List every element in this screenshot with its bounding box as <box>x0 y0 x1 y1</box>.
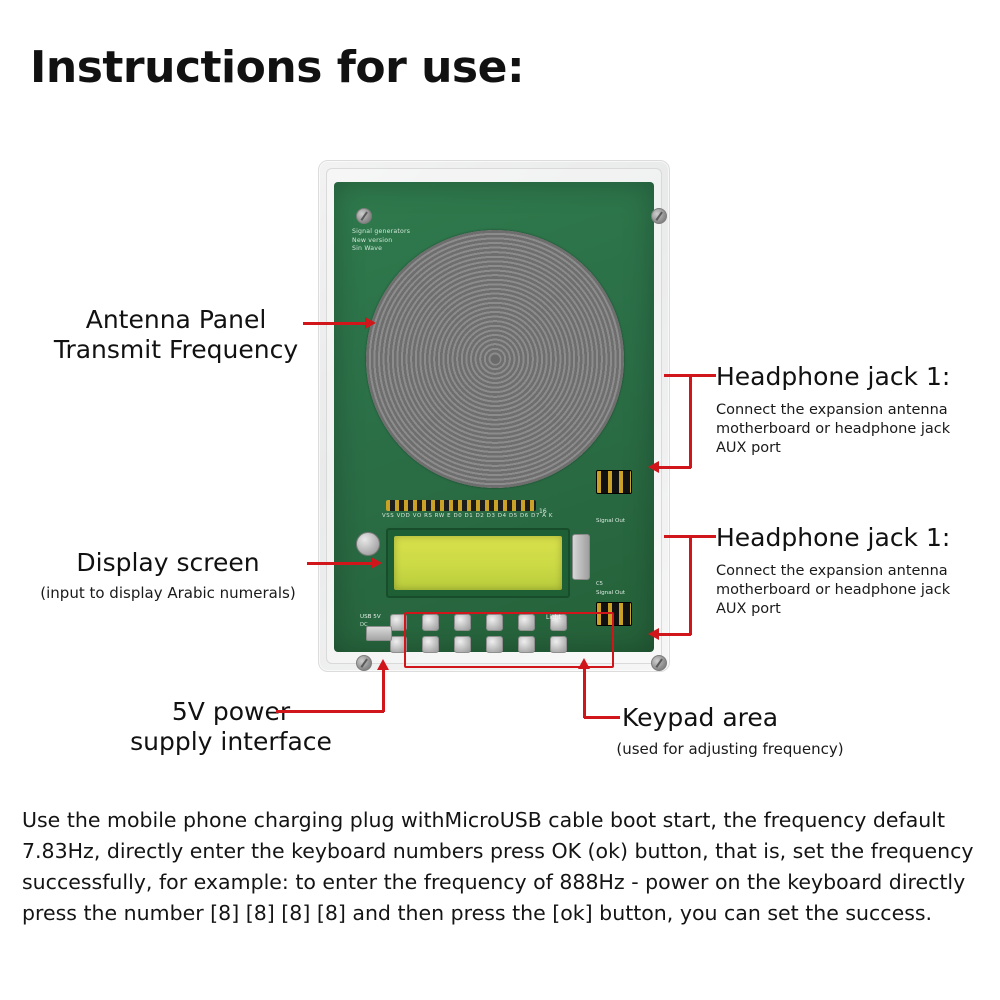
screw-icon <box>651 208 667 224</box>
callout-jack-1-sub-2: motherboard or headphone jack <box>716 420 996 439</box>
arrow-jack-2 <box>648 628 659 640</box>
callout-antenna-line1: Antenna Panel <box>46 305 306 335</box>
screw-icon <box>356 655 372 671</box>
callout-antenna-line2: Transmit Frequency <box>46 335 306 365</box>
leader-line-antenna <box>303 322 367 325</box>
page-title: Instructions for use: <box>30 42 524 93</box>
arrow-keypad <box>578 658 590 669</box>
signal-out-label-1: Signal Out <box>596 518 625 524</box>
silkscreen-line-1: Signal generators <box>352 228 410 237</box>
contrast-potentiometer <box>356 532 380 556</box>
callout-display-sub: (input to display Arabic numerals) <box>18 584 318 603</box>
screw-icon <box>356 208 372 224</box>
callout-display: Display screen (input to display Arabic … <box>18 548 318 603</box>
capacitor <box>572 534 590 580</box>
callout-power: 5V power supply interface <box>120 697 342 757</box>
leader-line-power-h <box>276 710 384 713</box>
antenna-coil <box>366 230 624 488</box>
silkscreen-line-2: New version <box>352 237 410 246</box>
paragraph-line-4: press the number [8] [8] [8] [8] and the… <box>22 898 982 929</box>
pin-labels: VSS VDD VO RS RW E D0 D1 D2 D3 D4 D5 D6 … <box>382 513 562 519</box>
callout-display-title: Display screen <box>18 548 318 578</box>
callout-keypad: Keypad area (used for adjusting frequenc… <box>560 703 900 759</box>
leader-line-jack-2-h2 <box>659 633 691 636</box>
callout-power-line2: supply interface <box>120 727 342 757</box>
pcb-silkscreen-text: Signal generators New version Sin Wave <box>352 228 410 254</box>
micro-usb-port[interactable] <box>366 626 392 641</box>
device-illustration: Signal generators New version Sin Wave V… <box>318 160 670 672</box>
callout-jack-2: Headphone jack 1: Connect the expansion … <box>716 523 996 619</box>
callout-jack-1: Headphone jack 1: Connect the expansion … <box>716 362 996 458</box>
screw-icon <box>651 655 667 671</box>
callout-jack-1-title: Headphone jack 1: <box>716 362 996 392</box>
paragraph-line-3: successfully, for example: to enter the … <box>22 867 982 898</box>
arrow-antenna <box>365 317 376 329</box>
paragraph-line-1: Use the mobile phone charging plug withM… <box>22 805 982 836</box>
callout-keypad-title: Keypad area <box>622 703 900 733</box>
lcd-header-pins <box>386 500 536 511</box>
callout-keypad-sub: (used for adjusting frequency) <box>560 740 900 759</box>
callout-jack-2-title: Headphone jack 1: <box>716 523 996 553</box>
leader-line-keypad-v <box>583 668 586 718</box>
instructions-paragraph: Use the mobile phone charging plug withM… <box>22 805 982 929</box>
arrow-display <box>371 557 382 569</box>
callout-antenna: Antenna Panel Transmit Frequency <box>46 305 306 365</box>
callout-jack-2-sub-1: Connect the expansion antenna <box>716 562 996 581</box>
pin-number-label: 16 <box>539 508 547 515</box>
headphone-jack-connector-1 <box>596 470 632 494</box>
usb-label: USB 5V <box>360 614 381 620</box>
callout-jack-1-sub-3: AUX port <box>716 439 996 458</box>
leader-line-keypad-h <box>584 716 620 719</box>
arrow-jack-1 <box>648 461 659 473</box>
leader-line-jack-1-v <box>689 374 692 468</box>
paragraph-line-2: 7.83Hz, directly enter the keyboard numb… <box>22 836 982 867</box>
signal-out-label-2: Signal Out <box>596 590 625 596</box>
callout-jack-2-sub-2: motherboard or headphone jack <box>716 581 996 600</box>
leader-line-power-v <box>382 669 385 712</box>
leader-line-display <box>307 562 373 565</box>
leader-line-jack-2-v <box>689 535 692 635</box>
instruction-diagram: Instructions for use: Signal generators … <box>0 0 1000 1000</box>
silkscreen-line-3: Sin Wave <box>352 245 410 254</box>
callout-jack-2-sub-3: AUX port <box>716 600 996 619</box>
pcb-board: Signal generators New version Sin Wave V… <box>334 182 654 652</box>
callout-jack-1-sub-1: Connect the expansion antenna <box>716 401 996 420</box>
lcd-display <box>386 528 570 598</box>
lcd-screen-surface <box>394 536 562 590</box>
arrow-power <box>377 659 389 670</box>
leader-line-jack-1-h2 <box>659 466 691 469</box>
c5-label: C5 <box>596 581 603 587</box>
